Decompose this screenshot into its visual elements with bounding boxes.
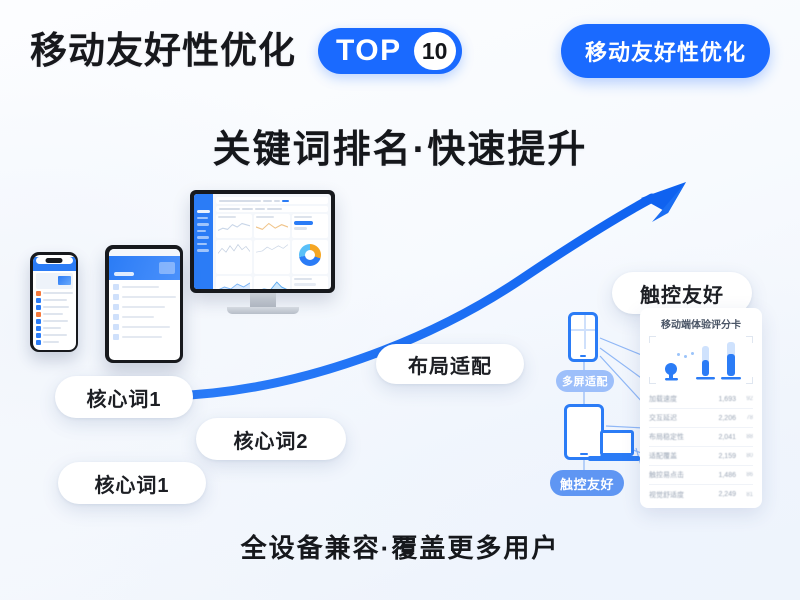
pill-keyword-3[interactable]: 核心词1 [58,462,206,504]
row-label: 触控易点击 [649,470,710,480]
row-label: 适配覆盖 [649,451,710,461]
row-percent: 80 [740,453,753,459]
header-blue-pill: 移动友好性优化 [561,24,770,78]
mobile-experience-diagram: 多屏适配 触控友好 移动端体验评分卡 [548,308,768,513]
score-card: 移动端体验评分卡 [640,308,762,508]
row-value: 2,041 [714,434,736,441]
pill-diagram-touch-friendly[interactable]: 触控友好 [550,470,624,496]
table-row: 加载速度 1,693 92 [649,390,753,409]
row-label: 布局稳定性 [649,432,710,442]
score-card-title: 移动端体验评分卡 [649,316,753,331]
top-badge-number: 10 [414,32,456,70]
row-percent: 88 [740,434,753,440]
poster-canvas: 移动友好性优化 TOP 10 移动友好性优化 关键词排名·快速提升 [0,0,800,600]
page-subtitle: 关键词排名·快速提升 [0,118,800,173]
pill-keyword-2[interactable]: 核心词2 [196,418,346,460]
pill-multi-screen[interactable]: 多屏适配 [556,370,614,392]
row-percent: 86 [740,472,753,478]
table-row: 触控易点击 1,486 86 [649,466,753,485]
score-card-chart [649,336,753,384]
pill-layout-adaptation[interactable]: 布局适配 [376,344,524,384]
row-label: 视觉舒适度 [649,490,710,500]
row-percent: 81 [740,492,753,498]
top-rank-badge: TOP 10 [318,28,462,74]
mini-phone-top-icon [568,312,598,362]
row-label: 交互延迟 [649,413,710,423]
table-row: 视觉舒适度 2,249 81 [649,485,753,504]
row-label: 加载速度 [649,394,710,404]
row-value: 2,159 [714,453,736,460]
row-percent: 78 [740,415,753,421]
header-row: 移动友好性优化 TOP 10 移动友好性优化 [30,24,770,78]
page-title: 移动友好性优化 [30,31,296,72]
row-value: 1,486 [714,472,736,479]
pill-keyword-1[interactable]: 核心词1 [55,376,193,418]
row-value: 2,249 [714,491,736,498]
table-row: 布局稳定性 2,041 88 [649,428,753,447]
row-value: 2,206 [714,415,736,422]
top-badge-word: TOP [336,36,414,66]
row-value: 1,693 [714,396,736,403]
mini-laptop-icon [600,430,634,456]
table-row: 适配覆盖 2,159 80 [649,447,753,466]
table-row: 交互延迟 2,206 78 [649,409,753,428]
mini-phone-main-icon [564,404,604,460]
mini-laptop-base [588,456,640,461]
footer-tagline: 全设备兼容·覆盖更多用户 [0,528,800,565]
row-percent: 92 [740,396,753,402]
bar-chart-icon [649,336,753,384]
